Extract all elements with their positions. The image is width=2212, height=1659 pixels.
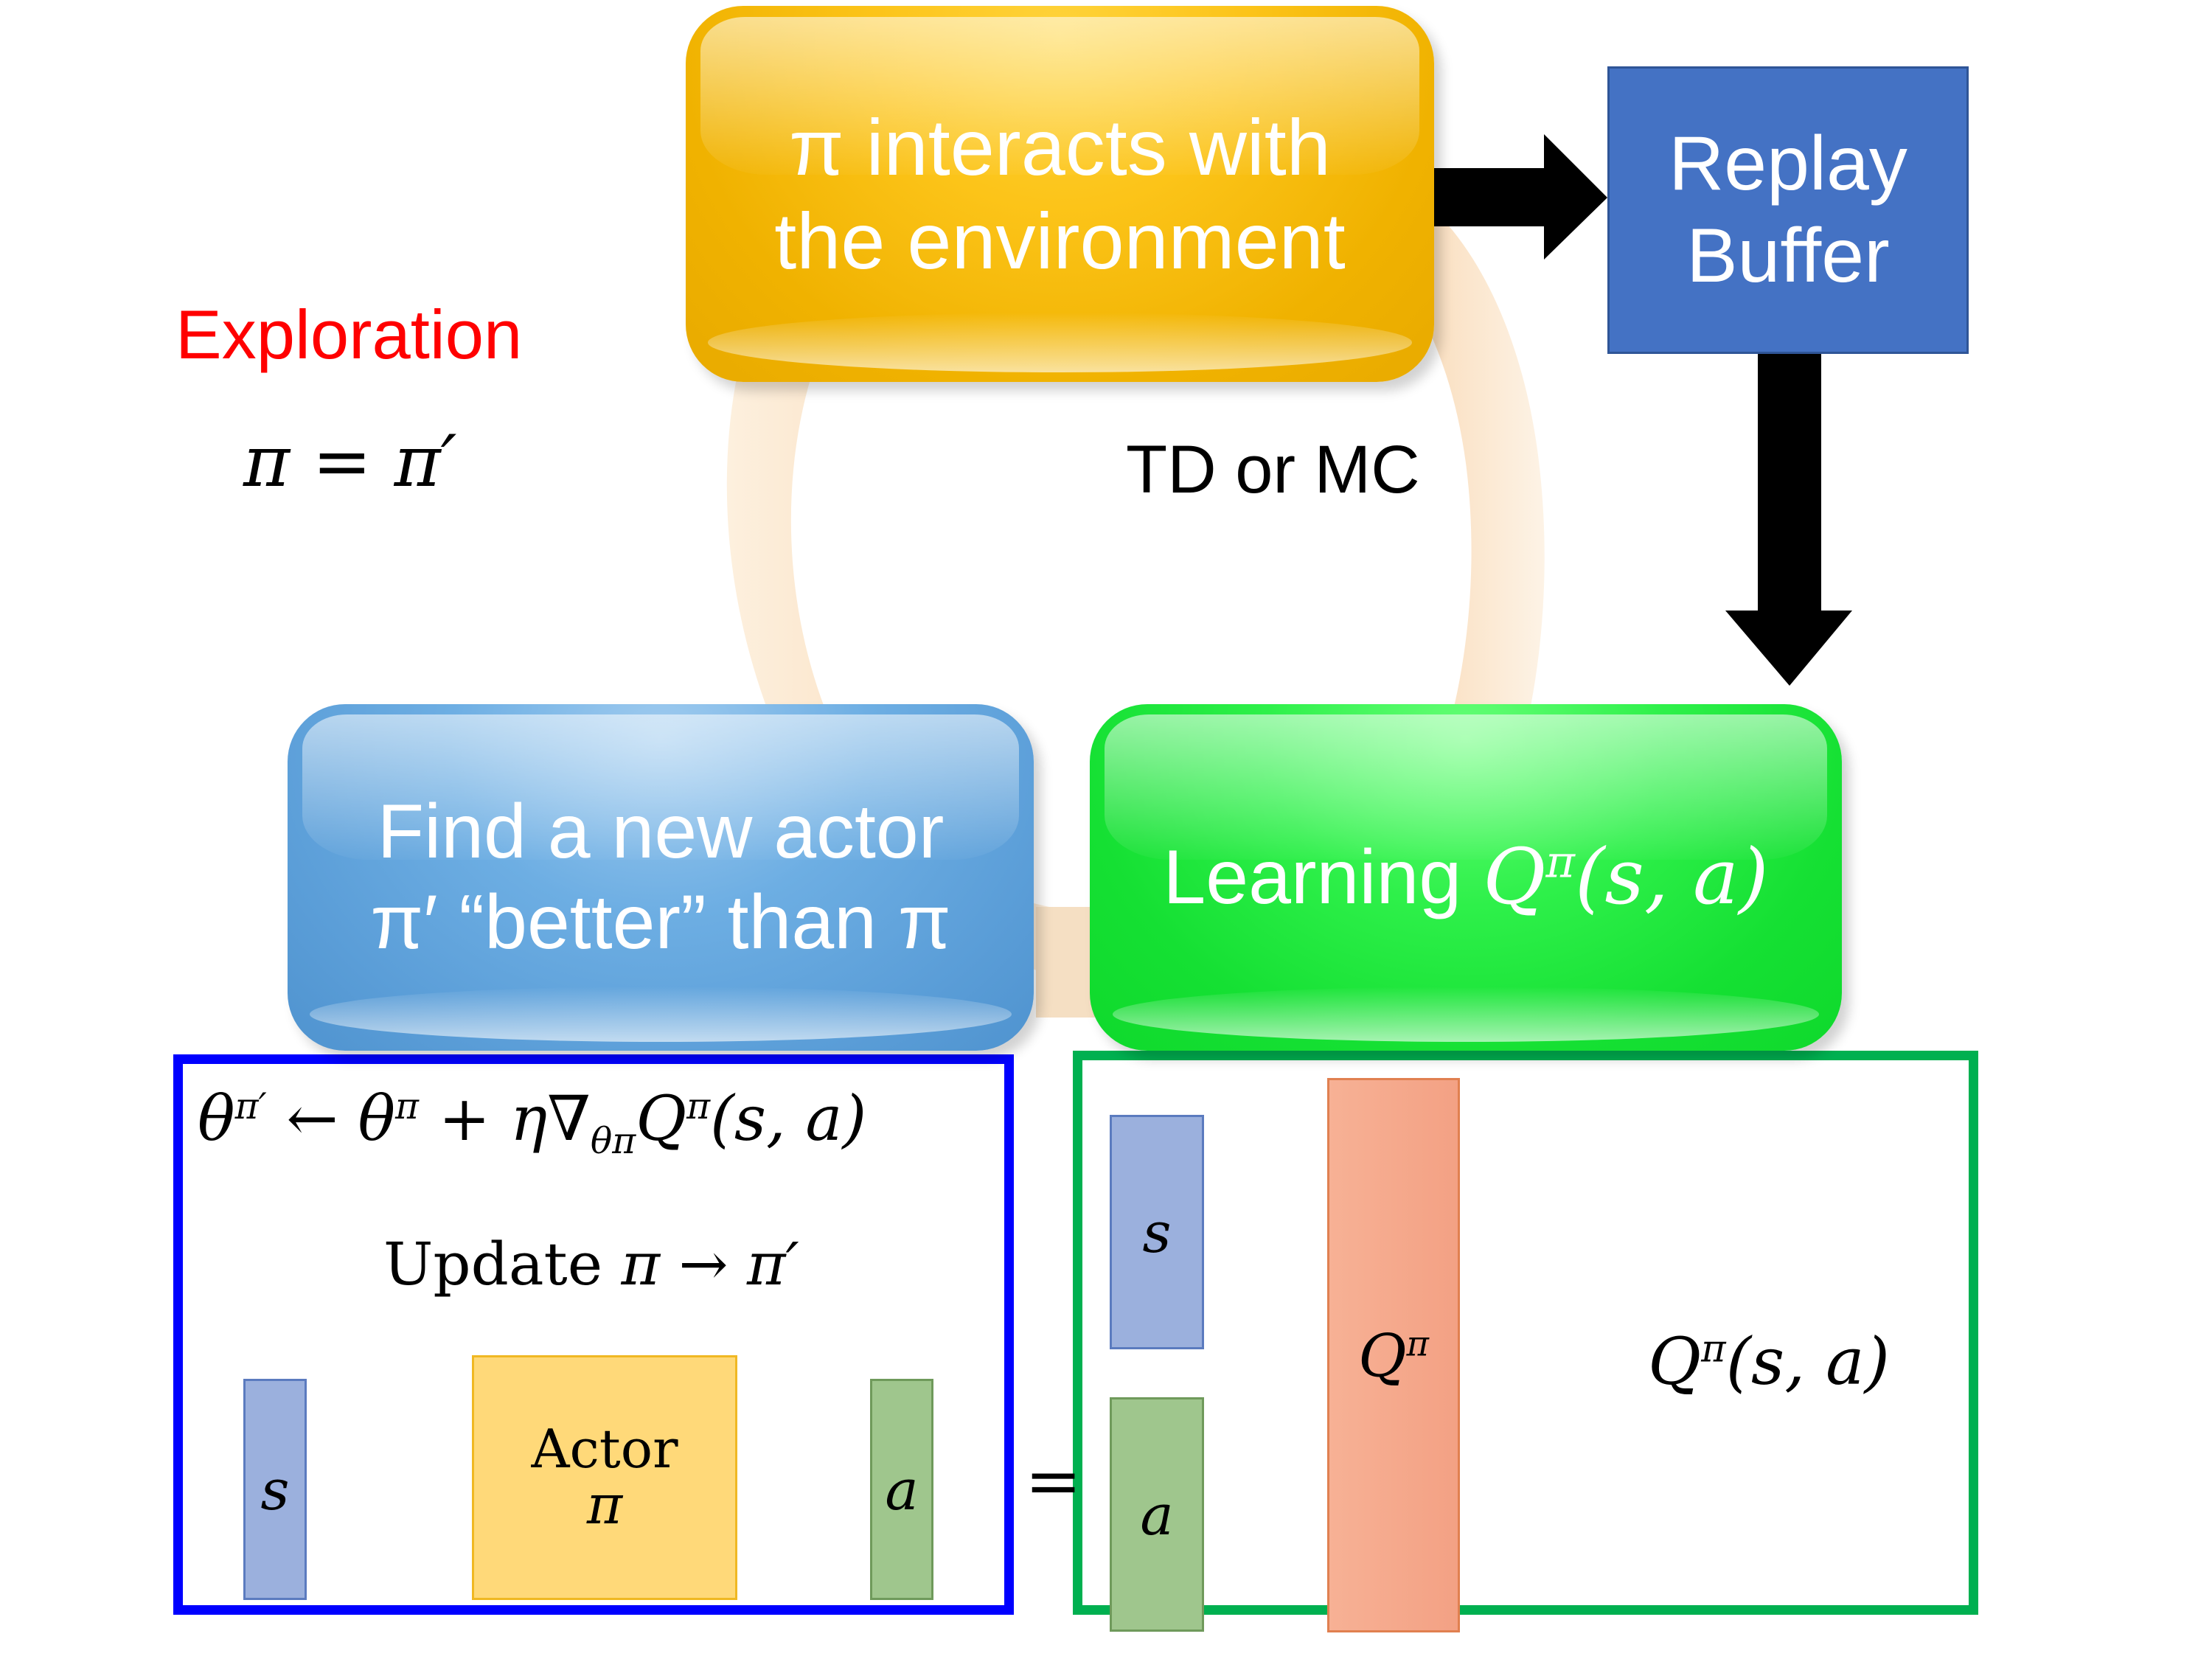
label-q-output-symbol: Q <box>1648 1324 1701 1399</box>
block-actor-network-symbol: π <box>587 1477 622 1534</box>
node-learning-q[interactable]: Learning Qπ(s, a) <box>1090 704 1842 1051</box>
formula-q-args: (s, a) <box>710 1082 866 1155</box>
node-replay-buffer-line1: Replay <box>1669 118 1907 210</box>
formula-plus: + <box>439 1082 490 1155</box>
formula-theta-new: θ <box>198 1082 235 1155</box>
node-replay-buffer-line2: Buffer <box>1669 210 1907 302</box>
block-state-input-q: s <box>1110 1115 1204 1349</box>
formula-update-word: Update <box>383 1230 621 1298</box>
node-environment-line1: π interacts with <box>686 100 1434 194</box>
diagram-canvas: π interacts with the environment Replay … <box>0 0 2212 1659</box>
block-action-input-q: a <box>1110 1397 1204 1632</box>
node-learning-q-prefix: Learning <box>1163 835 1483 920</box>
node-learning-q-superscript: π <box>1545 836 1575 888</box>
label-exploration: Exploration <box>175 295 522 375</box>
node-find-new-actor-line2: π′ “better” than π <box>288 877 1034 968</box>
arrow-env-to-replay <box>1429 134 1607 260</box>
formula-theta-old: θ <box>358 1082 395 1155</box>
block-q-network-sup: π <box>1407 1324 1430 1363</box>
node-find-new-actor-line1: Find a new actor <box>288 787 1034 877</box>
formula-q-sup: π <box>686 1086 710 1127</box>
formula-assign-arrow: ← <box>286 1082 338 1155</box>
label-q-output-args: (s, a) <box>1726 1324 1890 1399</box>
node-replay-buffer[interactable]: Replay Buffer <box>1607 66 1969 354</box>
label-q-output: Qπ(s, a) <box>1648 1324 1890 1399</box>
node-environment[interactable]: π interacts with the environment <box>686 6 1434 382</box>
node-environment-line2: the environment <box>686 194 1434 288</box>
block-actor-network-label: Actor <box>531 1422 678 1478</box>
formula-eta: η <box>510 1082 547 1155</box>
formula-update-pi-prime: π′ <box>747 1230 799 1298</box>
arrow-replay-to-learning <box>1725 352 1852 686</box>
node-find-new-actor[interactable]: Find a new actor π′ “better” than π <box>288 704 1034 1051</box>
formula-gradient-update: θπ′ ← θπ + η∇θπQπ(s, a) <box>198 1082 866 1162</box>
formula-theta-new-sup: π′ <box>235 1086 267 1127</box>
formula-policy-update: Update π → π′ <box>383 1230 799 1298</box>
block-action-output-actor: a <box>870 1379 933 1600</box>
label-policy-assignment: π = π′ <box>243 420 456 503</box>
block-actor-network: Actor π <box>472 1355 737 1600</box>
formula-update-pi: π <box>621 1230 660 1298</box>
block-q-network: Qπ <box>1327 1078 1460 1632</box>
node-learning-q-symbol: Q <box>1483 832 1545 922</box>
label-q-output-sup: π <box>1701 1328 1726 1371</box>
formula-update-arrow-icon: → <box>678 1230 728 1298</box>
formula-nabla-subscript: θπ <box>591 1121 636 1162</box>
label-equals: = <box>1025 1441 1082 1520</box>
node-learning-q-args: (s, a) <box>1575 832 1769 922</box>
formula-q: Q <box>636 1082 686 1155</box>
formula-theta-old-sup: π <box>395 1086 419 1127</box>
formula-nabla-icon: ∇ <box>547 1082 591 1155</box>
label-td-or-mc: TD or MC <box>1126 431 1420 509</box>
block-state-input-actor: s <box>243 1379 307 1600</box>
block-q-network-symbol: Q <box>1358 1321 1407 1390</box>
